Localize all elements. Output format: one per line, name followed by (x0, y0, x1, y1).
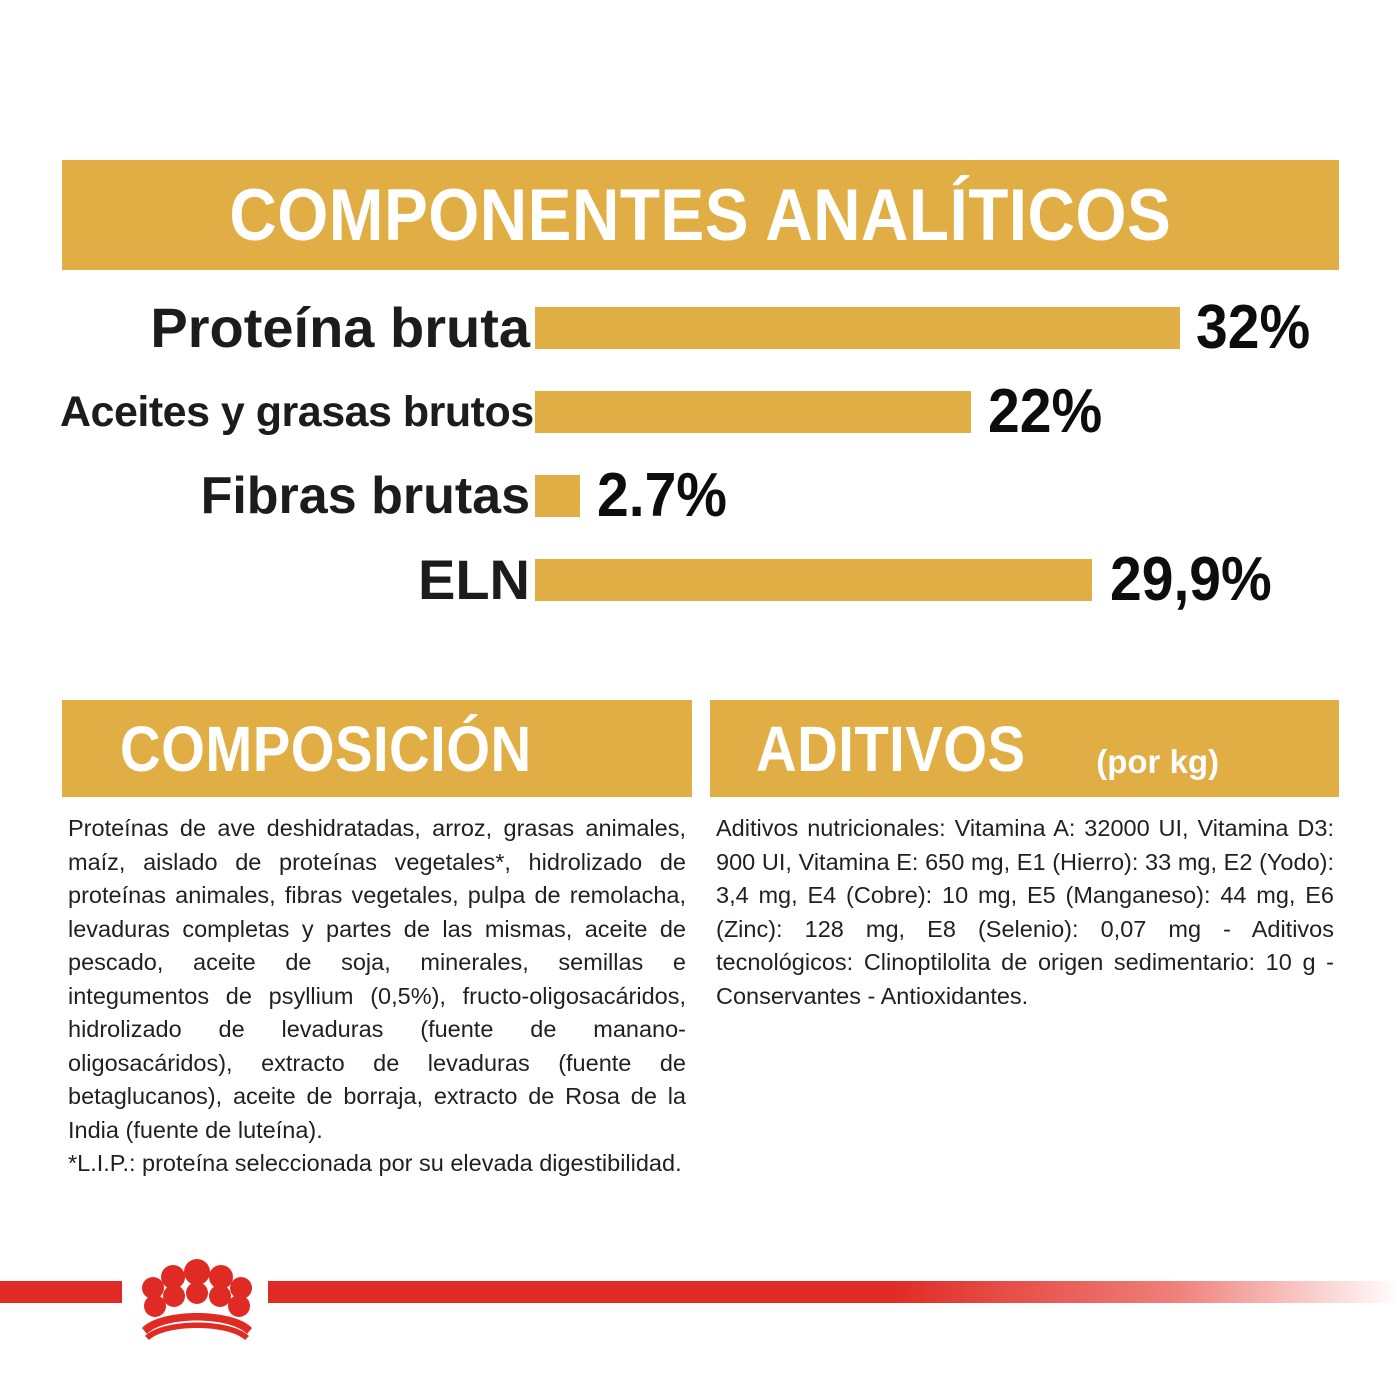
bar-value-label: 32% (1196, 297, 1310, 359)
analytical-components-title: COMPONENTES ANALÍTICOS (230, 174, 1172, 257)
bar-value-label: 2.7% (597, 465, 727, 527)
composition-footnote: *L.I.P.: proteína seleccionada por su el… (68, 1147, 686, 1181)
bar-track (535, 559, 1092, 601)
nutrient-label: Aceites y grasas brutos (60, 391, 530, 434)
royal-canin-crown-logo (126, 1258, 268, 1340)
additives-body: Aditivos nutricionales: Vitamina A: 3200… (716, 812, 1334, 1013)
chart-row: Proteína bruta 32% (0, 289, 1400, 367)
additives-title: ADITIVOS (756, 712, 1026, 786)
additives-subtitle: (por kg) (1096, 743, 1219, 781)
composition-ingredients: Proteínas de ave deshidratadas, arroz, g… (68, 815, 686, 1143)
bar-fill (535, 307, 1180, 349)
nutrient-label: Fibras brutas (60, 470, 530, 522)
bar-value-label: 22% (988, 381, 1102, 443)
bar-track (535, 391, 971, 433)
bar-value-label: 29,9% (1110, 549, 1272, 611)
footer-rule-left (0, 1281, 122, 1303)
footer-rule-right (268, 1281, 1400, 1303)
bar-track (535, 475, 580, 517)
chart-row: ELN 29,9% (0, 541, 1400, 619)
nutrition-panel: COMPONENTES ANALÍTICOS Proteína bruta 32… (0, 0, 1400, 1400)
bar-fill (535, 475, 580, 517)
analytical-components-chart: Proteína bruta 32% Aceites y grasas brut… (0, 285, 1400, 635)
chart-row: Fibras brutas 2.7% (0, 457, 1400, 535)
bar-fill (535, 559, 1092, 601)
footer (0, 1258, 1400, 1400)
composition-title: COMPOSICIÓN (120, 712, 532, 786)
nutrient-label: Proteína bruta (60, 300, 530, 356)
nutrient-label: ELN (60, 552, 530, 608)
additives-header: ADITIVOS (por kg) (710, 700, 1339, 797)
composition-header: COMPOSICIÓN (62, 700, 692, 797)
analytical-components-header: COMPONENTES ANALÍTICOS (62, 160, 1339, 270)
composition-body: Proteínas de ave deshidratadas, arroz, g… (68, 812, 686, 1181)
bar-fill (535, 391, 971, 433)
bar-track (535, 307, 1180, 349)
additives-list: Aditivos nutricionales: Vitamina A: 3200… (716, 815, 1334, 1009)
chart-row: Aceites y grasas brutos 22% (0, 373, 1400, 451)
